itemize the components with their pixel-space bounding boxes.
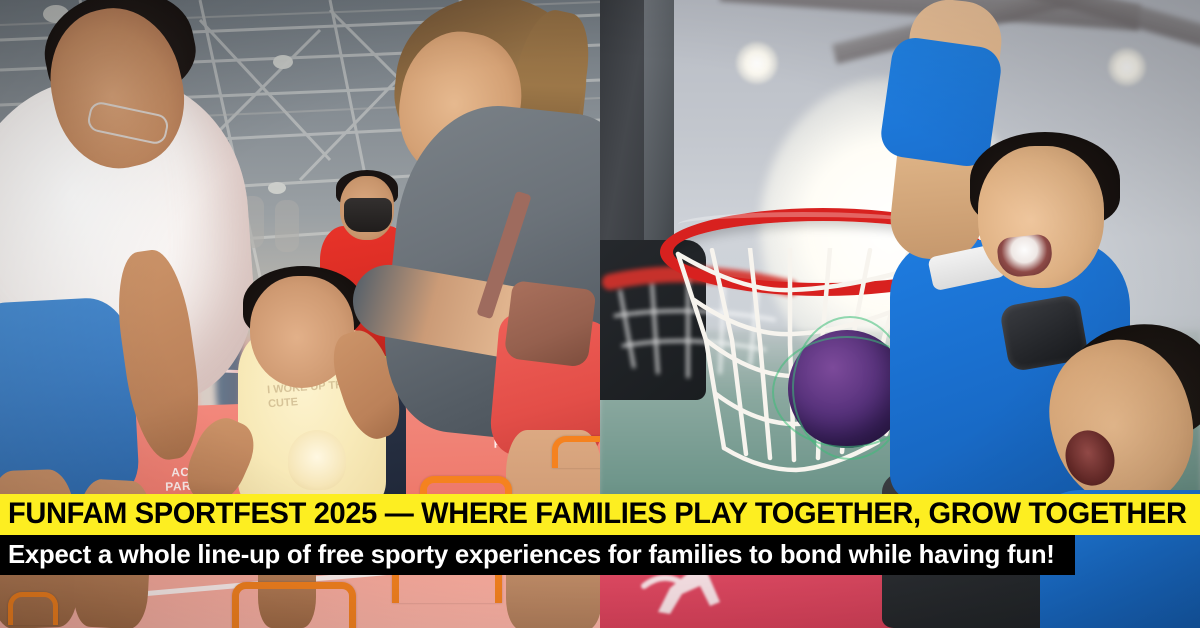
face-mask [344, 198, 392, 232]
mini-hurdle [8, 592, 58, 625]
basketball [788, 330, 906, 448]
mini-hurdle [552, 436, 600, 468]
caption-block: FUNFAM SPORTFEST 2025 — WHERE FAMILIES P… [0, 494, 1200, 575]
ceiling-light [1108, 48, 1146, 86]
event-promo-banner: ACTIVE PARENTS ACTIVE PARENTS [0, 0, 1200, 628]
headline-highlight-bar: FUNFAM SPORTFEST 2025 — WHERE FAMILIES P… [0, 494, 1200, 535]
subline-text: Expect a whole line-up of free sporty ex… [8, 539, 1055, 569]
shoulder-bag [504, 280, 597, 368]
ceiling-light [736, 42, 778, 84]
subline-highlight-bar: Expect a whole line-up of free sporty ex… [0, 535, 1075, 575]
mini-hurdle [232, 582, 356, 628]
shirt-mascot-graphic [288, 430, 346, 490]
headline-text: FUNFAM SPORTFEST 2025 — WHERE FAMILIES P… [8, 497, 1187, 531]
child-jersey-sleeve [878, 35, 1004, 169]
